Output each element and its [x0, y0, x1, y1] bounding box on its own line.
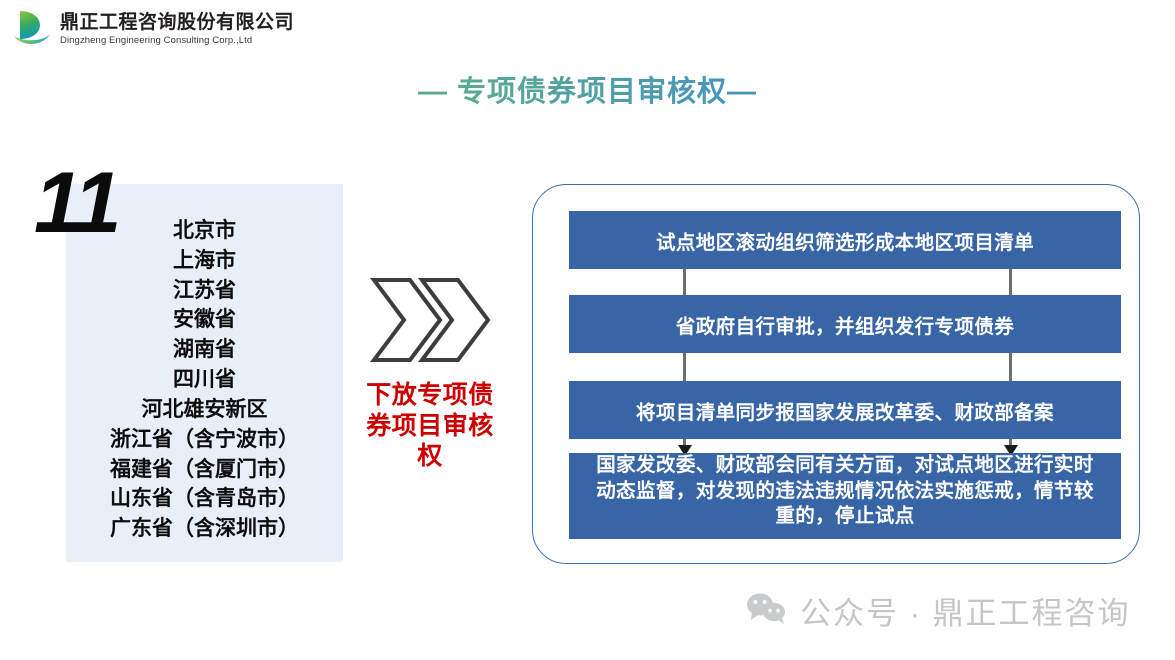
flow-connector-2-right	[1009, 353, 1012, 381]
list-item: 四川省	[66, 365, 343, 395]
list-item: 安徽省	[66, 305, 343, 335]
flow-step-3[interactable]: 将项目清单同步报国家发展改革委、财政部备案	[569, 381, 1121, 439]
flow-step-label: 将项目清单同步报国家发展改革委、财政部备案	[636, 396, 1054, 425]
watermark-text: 公众号 · 鼎正工程咨询	[800, 588, 1131, 633]
region-count-number: 11	[34, 160, 119, 246]
list-item: 浙江省（含宁波市）	[66, 425, 343, 455]
double-chevron-right-icon	[368, 276, 492, 364]
list-item: 河北雄安新区	[66, 395, 343, 425]
transfer-caption: 下放专项债券项目审核权	[360, 380, 500, 472]
flow-step-label: 国家发改委、财政部会同有关方面，对试点地区进行实时动态监督，对发现的违法违规情况…	[596, 454, 1094, 527]
flow-step-2[interactable]: 省政府自行审批，并组织发行专项债券	[569, 295, 1121, 353]
list-item: 江苏省	[66, 276, 343, 306]
flow-step-4[interactable]: 国家发改委、财政部会同有关方面，对试点地区进行实时动态监督，对发现的违法违规情况…	[569, 453, 1121, 539]
list-item: 广东省（含深圳市）	[66, 514, 343, 544]
page-title: — 专项债券项目审核权—	[0, 68, 1175, 110]
brand-text-block: 鼎正工程咨询股份有限公司 Dingzheng Engineering Consu…	[60, 13, 294, 46]
brand-name-en: Dingzheng Engineering Consulting Corp.,L…	[60, 36, 294, 46]
dingzheng-d-logo-icon	[12, 8, 52, 50]
flow-step-label: 试点地区滚动组织筛选形成本地区项目清单	[656, 226, 1034, 255]
list-item: 福建省（含厦门市）	[66, 455, 343, 485]
flow-connector-2-left	[683, 353, 686, 381]
list-item: 湖南省	[66, 335, 343, 365]
transfer-block: 下放专项债券项目审核权	[360, 276, 500, 472]
list-item: 山东省（含青岛市）	[66, 484, 343, 514]
flow-step-label: 省政府自行审批，并组织发行专项债券	[676, 310, 1014, 339]
flow-connector-1-right	[1009, 269, 1012, 295]
flow-container: 试点地区滚动组织筛选形成本地区项目清单 省政府自行审批，并组织发行专项债券 将项…	[532, 184, 1140, 564]
flow-step-1[interactable]: 试点地区滚动组织筛选形成本地区项目清单	[569, 211, 1121, 269]
wechat-icon	[746, 592, 786, 629]
brand-name-cn: 鼎正工程咨询股份有限公司	[60, 13, 294, 32]
flow-connector-1-left	[683, 269, 686, 295]
brand-header: 鼎正工程咨询股份有限公司 Dingzheng Engineering Consu…	[12, 6, 270, 52]
region-list: 北京市 上海市 江苏省 安徽省 湖南省 四川省 河北雄安新区 浙江省（含宁波市）…	[66, 216, 343, 544]
watermark: 公众号 · 鼎正工程咨询	[746, 588, 1131, 633]
